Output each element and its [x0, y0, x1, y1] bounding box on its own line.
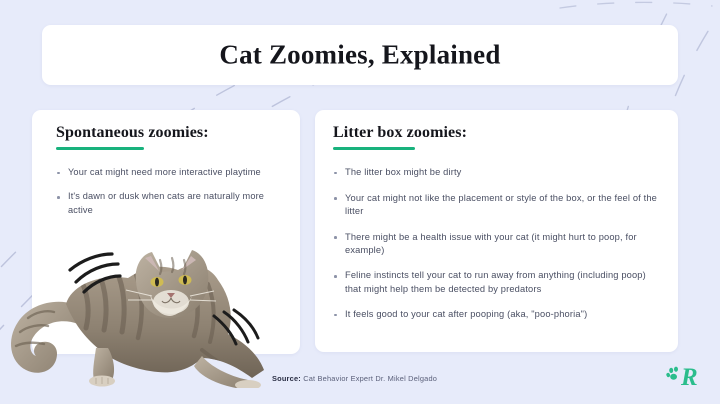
spontaneous-bullet-list: Your cat might need more interactive pla…	[56, 166, 286, 217]
list-item: Feline instincts tell your cat to run aw…	[333, 269, 664, 296]
litter-box-bullet-list: The litter box might be dirty Your cat m…	[333, 166, 664, 322]
list-item: There might be a health issue with your …	[333, 231, 664, 258]
paw-print-icon	[666, 367, 678, 380]
tabby-cat-play-bow-photo	[0, 238, 292, 388]
title-card: Cat Zoomies, Explained	[42, 25, 678, 85]
heading-underline	[56, 147, 144, 151]
infographic-canvas: Cat Zoomies, Explained Spontaneous zoomi…	[0, 0, 720, 404]
heading-underline	[333, 147, 415, 151]
logo-letter: R	[680, 364, 698, 390]
list-item: The litter box might be dirty	[333, 166, 664, 179]
list-item: Your cat might not like the placement or…	[333, 192, 664, 219]
page-title: Cat Zoomies, Explained	[42, 40, 678, 71]
list-item: Your cat might need more interactive pla…	[56, 166, 286, 179]
list-item: It feels good to your cat after pooping …	[333, 308, 664, 321]
rover-logo[interactable]: R	[666, 360, 708, 390]
source-text: Cat Behavior Expert Dr. Mikel Delgado	[303, 374, 437, 383]
column-heading-spontaneous: Spontaneous zoomies:	[56, 124, 286, 142]
litter-box-zoomies-card: Litter box zoomies: The litter box might…	[315, 110, 678, 352]
column-heading-litter-box: Litter box zoomies:	[333, 124, 664, 142]
source-label: Source:	[272, 374, 301, 383]
source-attribution: Source: Cat Behavior Expert Dr. Mikel De…	[272, 374, 437, 383]
list-item: It's dawn or dusk when cats are naturall…	[56, 190, 286, 217]
